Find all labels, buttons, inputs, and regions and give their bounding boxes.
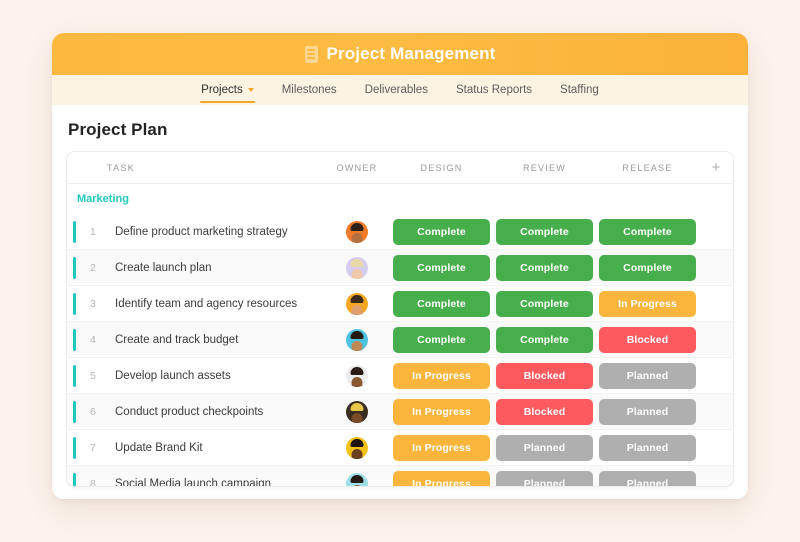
row-status-release-cell: Planned bbox=[596, 399, 699, 425]
row-status-release[interactable]: Blocked bbox=[599, 327, 696, 353]
row-status-design[interactable]: Complete bbox=[393, 327, 490, 353]
row-status-release-cell: Complete bbox=[596, 255, 699, 281]
avatar-face bbox=[352, 233, 363, 243]
row-owner-cell[interactable] bbox=[324, 437, 390, 459]
row-status-review-cell: Blocked bbox=[493, 399, 596, 425]
row-number: 2 bbox=[79, 262, 107, 274]
column-header-design[interactable]: DESIGN bbox=[390, 163, 493, 173]
table-header-row: TASK OWNER DESIGN REVIEW RELEASE + bbox=[67, 152, 733, 184]
row-owner-cell[interactable] bbox=[324, 257, 390, 279]
row-status-release-cell: Planned bbox=[596, 363, 699, 389]
row-status-review[interactable]: Blocked bbox=[496, 363, 593, 389]
row-status-design-cell: In Progress bbox=[390, 471, 493, 487]
table-row[interactable]: 8Social Media launch campaignIn Progress… bbox=[67, 466, 733, 487]
avatar[interactable] bbox=[346, 473, 368, 487]
nav-item-deliverables[interactable]: Deliverables bbox=[351, 75, 442, 105]
table-row[interactable]: 5Develop launch assetsIn ProgressBlocked… bbox=[67, 358, 733, 394]
table-row[interactable]: 6Conduct product checkpointsIn ProgressB… bbox=[67, 394, 733, 430]
row-status-design[interactable]: In Progress bbox=[393, 471, 490, 487]
row-status-design-cell: In Progress bbox=[390, 435, 493, 461]
table-row[interactable]: 7Update Brand KitIn ProgressPlannedPlann… bbox=[67, 430, 733, 466]
row-accent-bar bbox=[73, 401, 76, 423]
nav-item-projects[interactable]: Projects bbox=[187, 75, 268, 105]
row-accent-cell bbox=[67, 473, 79, 487]
row-owner-cell[interactable] bbox=[324, 293, 390, 315]
row-accent-cell bbox=[67, 437, 79, 459]
row-accent-bar bbox=[73, 329, 76, 351]
row-task-name[interactable]: Update Brand Kit bbox=[107, 442, 324, 454]
table-row[interactable]: 3Identify team and agency resourcesCompl… bbox=[67, 286, 733, 322]
row-accent-bar bbox=[73, 473, 76, 487]
row-task-name[interactable]: Develop launch assets bbox=[107, 370, 324, 382]
avatar-hair bbox=[351, 259, 364, 267]
row-status-review[interactable]: Complete bbox=[496, 255, 593, 281]
row-status-review[interactable]: Complete bbox=[496, 291, 593, 317]
row-status-release[interactable]: Complete bbox=[599, 255, 696, 281]
row-status-release[interactable]: In Progress bbox=[599, 291, 696, 317]
row-status-design-cell: Complete bbox=[390, 327, 493, 353]
row-accent-cell bbox=[67, 329, 79, 351]
row-task-name[interactable]: Create and track budget bbox=[107, 334, 324, 346]
row-accent-cell bbox=[67, 293, 79, 315]
main-nav: ProjectsMilestonesDeliverablesStatus Rep… bbox=[52, 75, 748, 105]
nav-item-label: Milestones bbox=[282, 84, 337, 96]
row-status-review[interactable]: Complete bbox=[496, 327, 593, 353]
row-accent-bar bbox=[73, 365, 76, 387]
row-accent-bar bbox=[73, 437, 76, 459]
add-column-button[interactable]: + bbox=[699, 160, 733, 175]
row-status-release[interactable]: Planned bbox=[599, 399, 696, 425]
row-status-review-cell: Planned bbox=[493, 435, 596, 461]
avatar[interactable] bbox=[346, 437, 368, 459]
avatar[interactable] bbox=[346, 329, 368, 351]
avatar-hair bbox=[351, 403, 364, 411]
row-owner-cell[interactable] bbox=[324, 221, 390, 243]
row-accent-cell bbox=[67, 257, 79, 279]
row-status-design-cell: Complete bbox=[390, 219, 493, 245]
row-status-design[interactable]: In Progress bbox=[393, 435, 490, 461]
column-header-owner[interactable]: OWNER bbox=[324, 163, 390, 173]
app-window: Project Management ProjectsMilestonesDel… bbox=[52, 33, 748, 499]
avatar-hair bbox=[351, 295, 364, 303]
avatar[interactable] bbox=[346, 365, 368, 387]
row-status-review-cell: Blocked bbox=[493, 363, 596, 389]
row-status-release-cell: Blocked bbox=[596, 327, 699, 353]
avatar-face bbox=[352, 305, 363, 315]
avatar-face bbox=[352, 485, 363, 487]
row-task-name[interactable]: Define product marketing strategy bbox=[107, 226, 324, 238]
group-label-marketing[interactable]: Marketing bbox=[67, 184, 733, 214]
row-accent-cell bbox=[67, 221, 79, 243]
avatar-face bbox=[352, 449, 363, 459]
row-owner-cell[interactable] bbox=[324, 329, 390, 351]
avatar-hair bbox=[351, 367, 364, 375]
table-rows: 1Define product marketing strategyComple… bbox=[67, 214, 733, 486]
row-status-release[interactable]: Planned bbox=[599, 471, 696, 487]
row-number: 3 bbox=[79, 298, 107, 310]
row-status-design[interactable]: In Progress bbox=[393, 399, 490, 425]
avatar-hair bbox=[351, 223, 364, 231]
avatar[interactable] bbox=[346, 293, 368, 315]
row-status-release[interactable]: Complete bbox=[599, 219, 696, 245]
avatar-face bbox=[352, 377, 363, 387]
row-number: 4 bbox=[79, 334, 107, 346]
row-status-release-cell: Planned bbox=[596, 471, 699, 487]
nav-item-label: Deliverables bbox=[365, 84, 428, 96]
row-number: 6 bbox=[79, 406, 107, 418]
row-status-design-cell: Complete bbox=[390, 255, 493, 281]
row-status-review[interactable]: Blocked bbox=[496, 399, 593, 425]
nav-item-label: Projects bbox=[201, 84, 243, 96]
row-accent-bar bbox=[73, 293, 76, 315]
row-task-name[interactable]: Social Media launch campaign bbox=[107, 478, 324, 487]
row-status-review-cell: Complete bbox=[493, 327, 596, 353]
row-status-design-cell: Complete bbox=[390, 291, 493, 317]
row-number: 7 bbox=[79, 442, 107, 454]
avatar[interactable] bbox=[346, 221, 368, 243]
nav-item-milestones[interactable]: Milestones bbox=[268, 75, 351, 105]
row-accent-bar bbox=[73, 257, 76, 279]
row-status-review-cell: Planned bbox=[493, 471, 596, 487]
row-status-review-cell: Complete bbox=[493, 219, 596, 245]
row-owner-cell[interactable] bbox=[324, 365, 390, 387]
column-header-task[interactable]: TASK bbox=[107, 163, 324, 173]
row-status-release[interactable]: Planned bbox=[599, 363, 696, 389]
row-status-design[interactable]: Complete bbox=[393, 291, 490, 317]
avatar-face bbox=[352, 269, 363, 279]
row-accent-cell bbox=[67, 365, 79, 387]
nav-item-label: Staffing bbox=[560, 84, 599, 96]
project-plan-table: TASK OWNER DESIGN REVIEW RELEASE + Marke… bbox=[66, 151, 734, 487]
nav-item-staffing[interactable]: Staffing bbox=[546, 75, 613, 105]
row-status-design[interactable]: Complete bbox=[393, 255, 490, 281]
row-task-name[interactable]: Identify team and agency resources bbox=[107, 298, 324, 310]
page-body: Project Plan TASK OWNER DESIGN REVIEW RE… bbox=[52, 105, 748, 499]
row-status-release-cell: Planned bbox=[596, 435, 699, 461]
table-row[interactable]: 2Create launch planCompleteCompleteCompl… bbox=[67, 250, 733, 286]
column-header-review[interactable]: REVIEW bbox=[493, 163, 596, 173]
row-status-design[interactable]: Complete bbox=[393, 219, 490, 245]
row-owner-cell[interactable] bbox=[324, 473, 390, 487]
row-status-release-cell: Complete bbox=[596, 219, 699, 245]
app-title: Project Management bbox=[327, 44, 496, 64]
row-status-review[interactable]: Planned bbox=[496, 471, 593, 487]
nav-item-label: Status Reports bbox=[456, 84, 532, 96]
avatar-hair bbox=[351, 439, 364, 447]
row-number: 5 bbox=[79, 370, 107, 382]
row-task-name[interactable]: Conduct product checkpoints bbox=[107, 406, 324, 418]
column-header-release[interactable]: RELEASE bbox=[596, 163, 699, 173]
avatar-face bbox=[352, 413, 363, 423]
avatar-face bbox=[352, 341, 363, 351]
row-task-name[interactable]: Create launch plan bbox=[107, 262, 324, 274]
table-row[interactable]: 1Define product marketing strategyComple… bbox=[67, 214, 733, 250]
table-row[interactable]: 4Create and track budgetCompleteComplete… bbox=[67, 322, 733, 358]
row-accent-bar bbox=[73, 221, 76, 243]
row-status-review-cell: Complete bbox=[493, 255, 596, 281]
row-status-design-cell: In Progress bbox=[390, 399, 493, 425]
avatar[interactable] bbox=[346, 401, 368, 423]
row-status-review[interactable]: Complete bbox=[496, 219, 593, 245]
plus-icon: + bbox=[712, 160, 721, 175]
row-status-design-cell: In Progress bbox=[390, 363, 493, 389]
list-document-icon bbox=[305, 46, 318, 63]
row-status-design[interactable]: In Progress bbox=[393, 363, 490, 389]
page-title: Project Plan bbox=[66, 105, 734, 151]
row-number: 8 bbox=[79, 478, 107, 487]
avatar-hair bbox=[351, 331, 364, 339]
row-accent-cell bbox=[67, 401, 79, 423]
title-bar: Project Management bbox=[52, 33, 748, 75]
row-status-release[interactable]: Planned bbox=[599, 435, 696, 461]
avatar[interactable] bbox=[346, 257, 368, 279]
nav-item-status-reports[interactable]: Status Reports bbox=[442, 75, 546, 105]
avatar-hair bbox=[351, 475, 364, 483]
row-status-review[interactable]: Planned bbox=[496, 435, 593, 461]
row-owner-cell[interactable] bbox=[324, 401, 390, 423]
row-status-review-cell: Complete bbox=[493, 291, 596, 317]
row-status-release-cell: In Progress bbox=[596, 291, 699, 317]
chevron-down-icon[interactable] bbox=[248, 88, 254, 92]
row-number: 1 bbox=[79, 226, 107, 238]
